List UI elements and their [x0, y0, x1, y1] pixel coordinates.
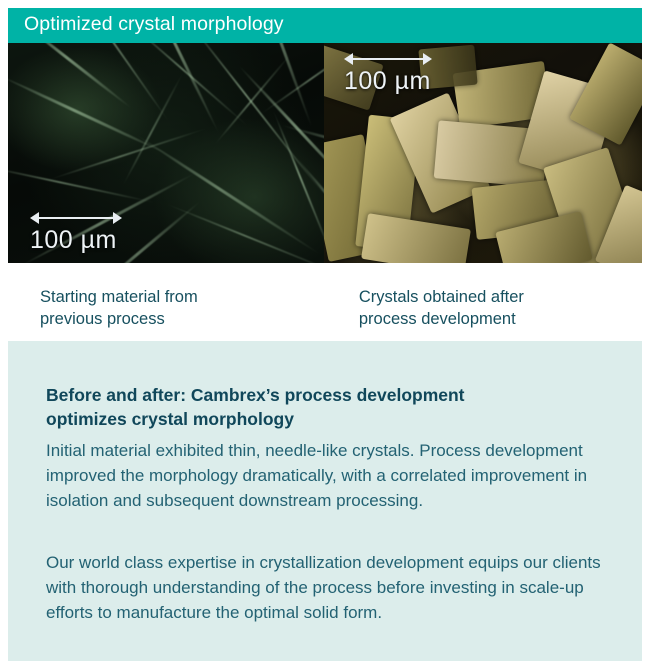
figure-after-caption: Crystals obtained after process developm…: [329, 263, 642, 341]
body-heading-line: Before and after: Cambrex’s process deve…: [46, 383, 606, 407]
figure-row: 100 µm: [8, 43, 642, 263]
scale-bar-before: 100 µm: [30, 212, 122, 253]
header-band: Optimized crystal morphology: [8, 8, 642, 43]
body-paragraph-2: Our world class expertise in crystalliza…: [46, 551, 618, 626]
figure-after-image: 100 µm: [324, 43, 642, 263]
scale-bar-label: 100 µm: [344, 69, 432, 94]
scale-bar-arrow-icon: [30, 212, 122, 224]
caption-line: Crystals obtained after: [359, 287, 642, 309]
scale-bar-label: 100 µm: [30, 228, 122, 253]
scale-bar-arrow-icon: [344, 53, 432, 65]
figure-before-image: 100 µm: [8, 43, 324, 263]
caption-row: Starting material from previous process …: [8, 263, 642, 341]
caption-line: previous process: [40, 309, 329, 331]
page-title: Optimized crystal morphology: [24, 13, 284, 36]
info-card: Optimized crystal morphology: [8, 8, 642, 661]
caption-line: Starting material from: [40, 287, 329, 309]
scale-bar-after: 100 µm: [344, 53, 432, 94]
figure-before-caption: Starting material from previous process: [8, 263, 329, 341]
body-paragraph-1: Initial material exhibited thin, needle-…: [46, 439, 618, 514]
caption-line: process development: [359, 309, 642, 331]
body-heading: Before and after: Cambrex’s process deve…: [46, 383, 606, 431]
body-panel: Before and after: Cambrex’s process deve…: [8, 341, 642, 661]
body-heading-line: optimizes crystal morphology: [46, 407, 606, 431]
